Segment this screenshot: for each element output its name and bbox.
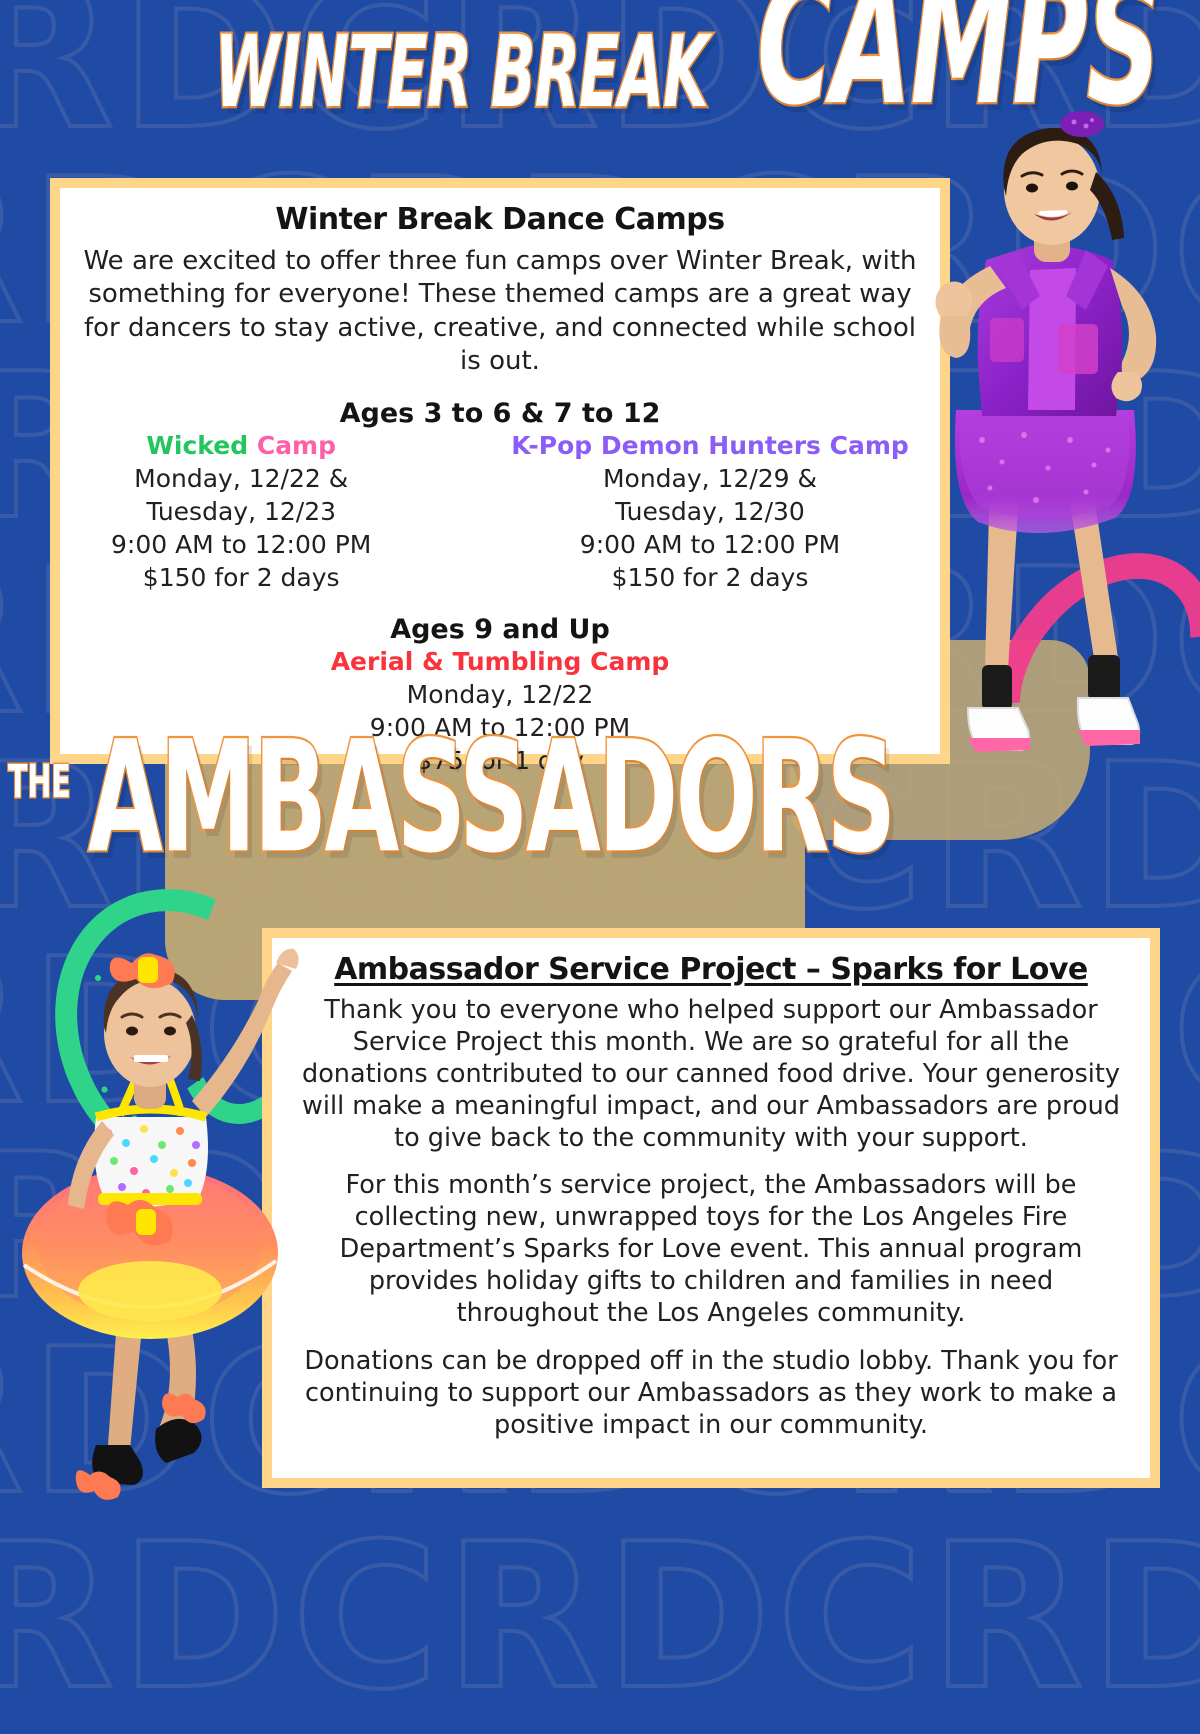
dancer-bottom-image <box>10 905 300 1525</box>
camp-columns: Wicked Camp Monday, 12/22 & Tuesday, 12/… <box>82 431 918 594</box>
camp-wicked: Wicked Camp Monday, 12/22 & Tuesday, 12/… <box>91 431 391 594</box>
ambassadors-paragraph-3: Donations can be dropped off in the stud… <box>294 1346 1128 1442</box>
camps-card-inner: Winter Break Dance Camps We are excited … <box>60 188 940 754</box>
camp-wicked-date-2: Tuesday, 12/23 <box>91 495 391 528</box>
ambassadors-headline-small: THE <box>8 761 71 806</box>
winter-break-camps-card: Winter Break Dance Camps We are excited … <box>50 178 950 764</box>
ambassadors-headline-big: AMBASSADORS <box>88 720 893 874</box>
camp-kpop: K-Pop Demon Hunters Camp Monday, 12/29 &… <box>511 431 909 594</box>
ambassadors-card: Ambassador Service Project – Sparks for … <box>262 928 1160 1488</box>
ambassadors-paragraph-1: Thank you to everyone who helped support… <box>294 995 1128 1154</box>
camp-kpop-date-2: Tuesday, 12/30 <box>511 495 909 528</box>
camp-wicked-price: $150 for 2 days <box>91 561 391 594</box>
ambassadors-card-inner: Ambassador Service Project – Sparks for … <box>272 938 1150 1478</box>
camp-wicked-name-part2: Camp <box>257 431 336 460</box>
age-group-2-heading: Ages 9 and Up <box>82 614 918 645</box>
camp-wicked-name: Wicked Camp <box>91 431 391 460</box>
dancer-top-image <box>890 110 1190 810</box>
camps-intro-paragraph: We are excited to offer three fun camps … <box>82 245 918 378</box>
camp-wicked-date-1: Monday, 12/22 & <box>91 462 391 495</box>
camp-wicked-name-part1: Wicked <box>146 431 248 460</box>
ambassadors-paragraph-2: For this month’s service project, the Am… <box>294 1170 1128 1329</box>
camps-headline-small: WINTER BREAK <box>215 24 708 123</box>
camps-card-title: Winter Break Dance Camps <box>82 202 918 237</box>
camp-kpop-name: K-Pop Demon Hunters Camp <box>511 431 909 460</box>
camp-kpop-price: $150 for 2 days <box>511 561 909 594</box>
camp-kpop-time: 9:00 AM to 12:00 PM <box>511 528 909 561</box>
ambassadors-card-title: Ambassador Service Project – Sparks for … <box>294 952 1128 987</box>
bg-pattern-row: RDCRDCRDCRDC <box>0 1520 1200 1715</box>
camp-aerial-name: Aerial & Tumbling Camp <box>82 647 918 676</box>
camp-kpop-date-1: Monday, 12/29 & <box>511 462 909 495</box>
camp-wicked-time: 9:00 AM to 12:00 PM <box>91 528 391 561</box>
age-group-1-heading: Ages 3 to 6 & 7 to 12 <box>82 398 918 429</box>
